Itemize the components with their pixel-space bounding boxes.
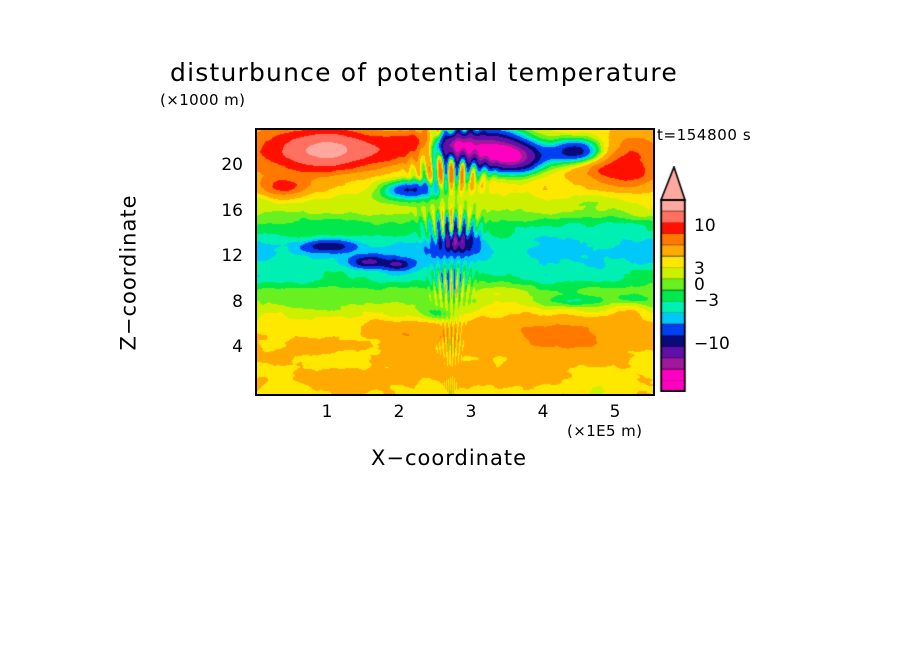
y-tick-label: 8 [209, 292, 243, 312]
colorbar [659, 166, 689, 392]
time-stamp-label: t=154800 s [657, 128, 751, 143]
x-tick-label: 1 [312, 402, 342, 422]
colorbar-tick-label: −10 [694, 334, 730, 354]
x-axis-title: X−coordinate [371, 448, 527, 469]
y-tick-label: 20 [209, 155, 243, 175]
x-tick-label: 3 [456, 402, 486, 422]
x-axis-unit-label: (×1E5 m) [567, 424, 642, 439]
colorbar-canvas [659, 166, 689, 392]
y-tick-label: 4 [209, 337, 243, 357]
y-axis-title: Z−coordinate [119, 133, 140, 413]
plot-area [255, 128, 655, 396]
page-title: disturbunce of potential temperature [170, 60, 678, 85]
y-tick-label: 16 [209, 201, 243, 221]
x-tick-label: 2 [384, 402, 414, 422]
contour-plot-figure: disturbunce of potential temperature (×1… [0, 0, 904, 654]
colorbar-tick-label: 10 [694, 216, 716, 236]
y-tick-label: 12 [209, 246, 243, 266]
contour-field-canvas [257, 130, 653, 394]
colorbar-tick-label: −3 [694, 291, 719, 311]
x-tick-label: 4 [528, 402, 558, 422]
x-tick-label: 5 [600, 402, 630, 422]
z-axis-unit-label: (×1000 m) [160, 93, 245, 108]
